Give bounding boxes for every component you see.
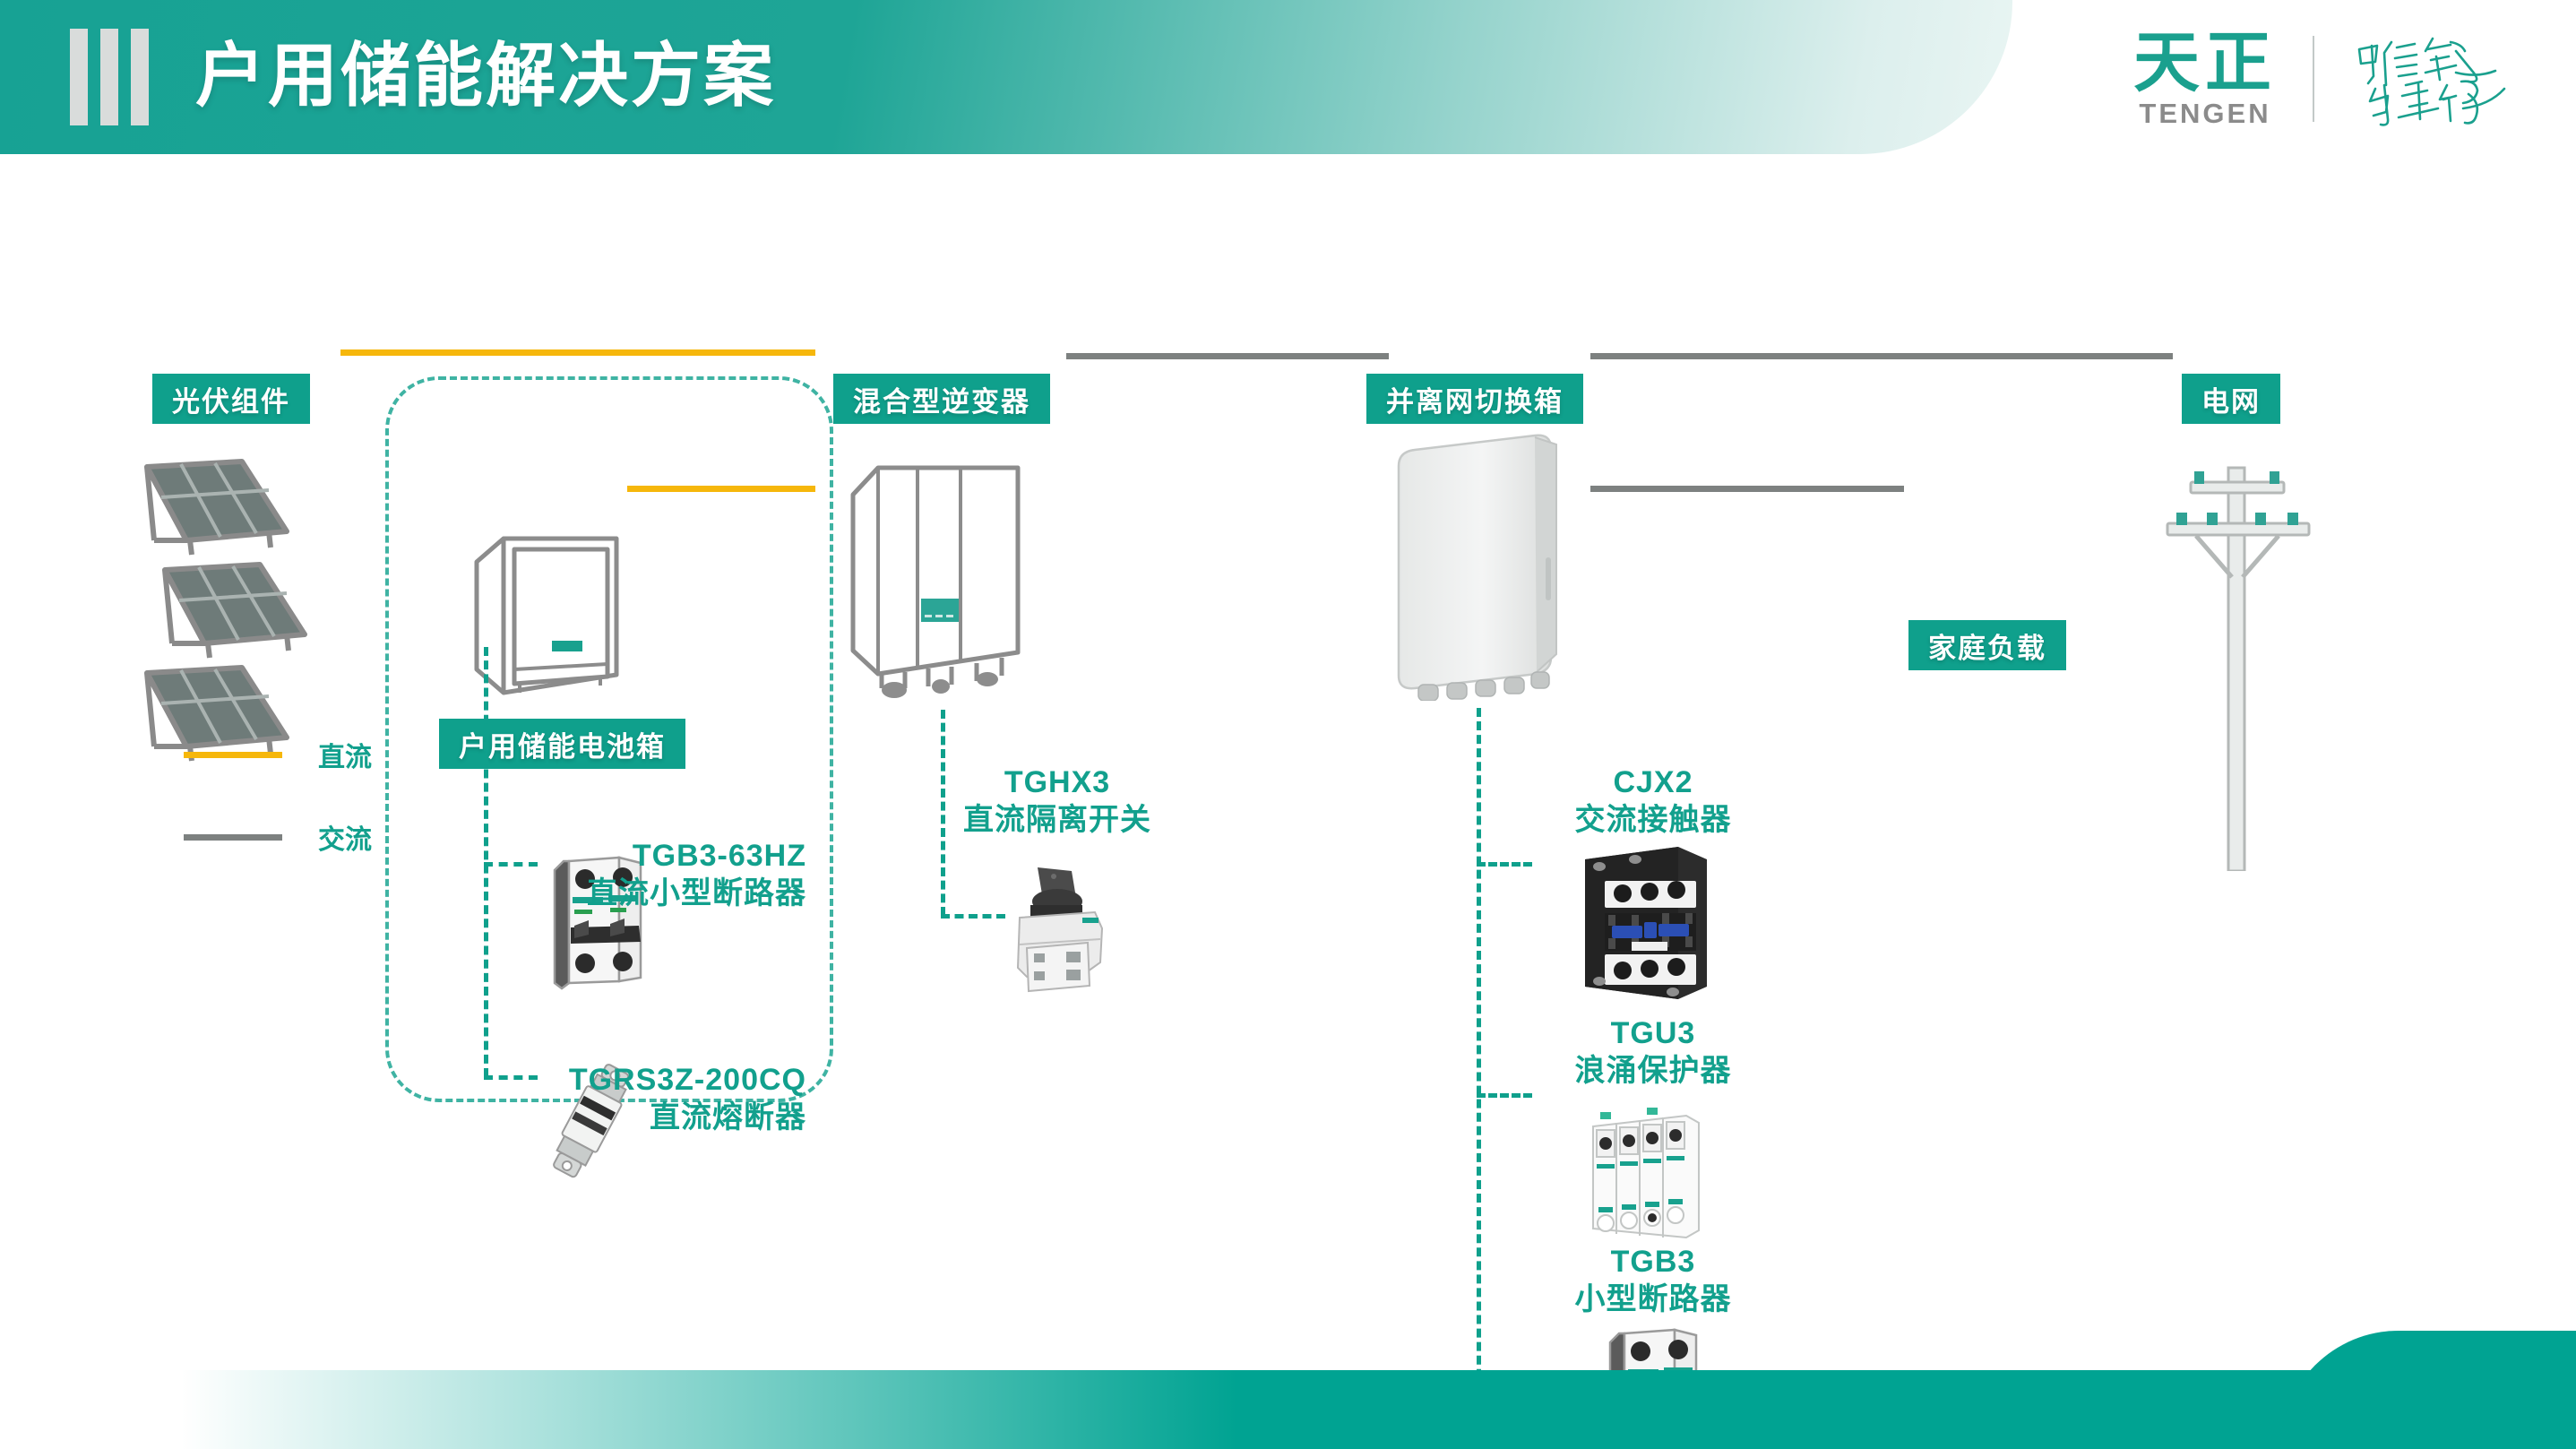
switch-box-icon xyxy=(1384,432,1572,701)
chip-switchbox: 并离网切换箱 xyxy=(1366,374,1583,424)
dashed-branch-cjx2 xyxy=(1477,862,1532,867)
dashed-branch-tgu3 xyxy=(1477,1093,1532,1098)
product-label-tgb3: TGB3 小型断路器 xyxy=(1505,1243,1801,1318)
surge-protector-icon xyxy=(1577,1100,1711,1247)
ac-contactor-icon xyxy=(1572,840,1716,1005)
page-title: 户用储能解决方案 xyxy=(195,20,776,131)
footer-band xyxy=(0,1370,2576,1449)
ac-line-switchbox-to-load xyxy=(1590,486,1904,492)
solar-panel-icon xyxy=(152,557,314,674)
brand-logo: 天正 TENGEN xyxy=(2133,25,2520,133)
product-label-cjx2: CJX2 交流接触器 xyxy=(1505,763,1801,839)
product-label-tghx3: TGHX3 直流隔离开关 xyxy=(878,763,1236,839)
battery-zone-boundary xyxy=(385,376,833,1102)
chip-inverter: 混合型逆变器 xyxy=(833,374,1050,424)
handwritten-slogan-icon xyxy=(2350,30,2520,128)
product-label-tgb3-63hz: TGB3-63HZ 直流小型断路器 xyxy=(385,837,806,912)
three-bars-icon xyxy=(70,29,149,125)
product-label-tgrs3z-200cq: TGRS3Z-200CQ 直流熔断器 xyxy=(358,1061,806,1136)
legend: 直流 交流 xyxy=(184,735,372,900)
utility-pole-icon xyxy=(2155,450,2316,871)
logo-divider xyxy=(2313,36,2314,122)
logo-brand-en: TENGEN xyxy=(2139,98,2270,130)
chip-grid: 电网 xyxy=(2182,374,2280,424)
legend-label-ac: 交流 xyxy=(318,817,372,857)
logo-mark: 天正 TENGEN xyxy=(2133,28,2277,130)
legend-label-dc: 直流 xyxy=(318,735,372,774)
chip-load: 家庭负载 xyxy=(1908,620,2066,670)
dc-line-pv-to-inverter xyxy=(340,349,815,356)
product-label-tgu3: TGU3 浪涌保护器 xyxy=(1505,1014,1801,1090)
dashed-trunk-switchbox xyxy=(1477,708,1481,1432)
dc-isolator-icon xyxy=(995,862,1120,1005)
page-header: 户用储能解决方案 xyxy=(0,0,2012,154)
legend-item-ac: 交流 xyxy=(184,817,372,857)
hybrid-inverter-icon xyxy=(842,459,1030,701)
battery-cabinet-icon xyxy=(466,526,627,705)
ac-line-inverter-to-switchbox xyxy=(1066,353,1389,359)
legend-item-dc: 直流 xyxy=(184,735,372,774)
legend-swatch-dc xyxy=(184,752,282,758)
chip-pv: 光伏组件 xyxy=(152,374,310,424)
legend-swatch-ac xyxy=(184,834,282,841)
solar-panel-icon xyxy=(134,454,296,571)
ac-line-switchbox-to-grid xyxy=(1590,353,2173,359)
diagram-canvas: 光伏组件 户用储能电池箱 混合型逆变器 并离网切换箱 电网 家庭负载 xyxy=(0,154,2576,1449)
logo-brand-cn: 天正 xyxy=(2133,28,2277,98)
